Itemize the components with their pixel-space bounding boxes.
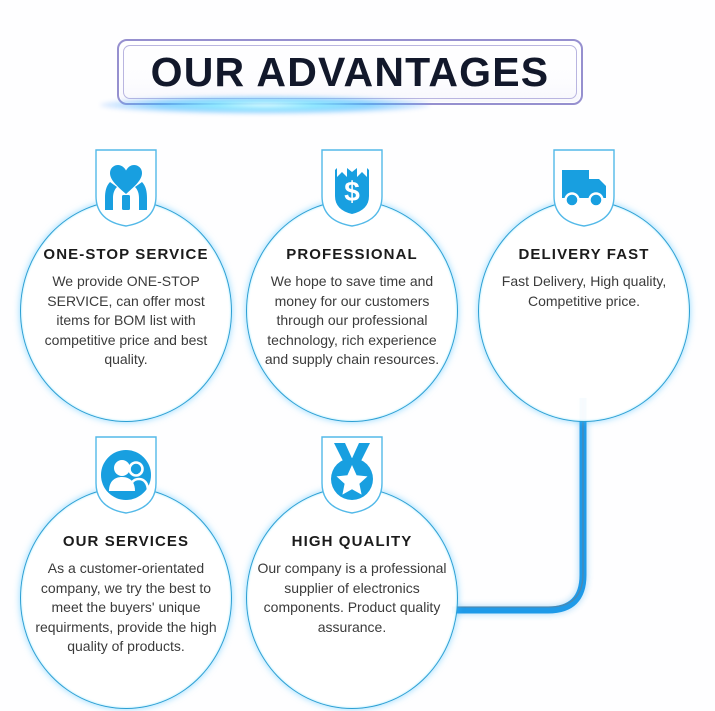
advantage-card-high-quality[interactable]: HIGH QUALITY Our company is a profession…: [246, 435, 458, 709]
advantage-card-professional[interactable]: $ PROFESSIONAL We hope to save time and …: [246, 148, 458, 422]
card-heading: ONE-STOP SERVICE: [31, 246, 221, 263]
card-text-block: PROFESSIONAL We hope to save time and mo…: [246, 200, 458, 422]
money-bag-icon: $: [319, 148, 385, 228]
card-text-block: HIGH QUALITY Our company is a profession…: [246, 487, 458, 709]
card-heading: OUR SERVICES: [31, 533, 221, 550]
card-body: Our company is a professional supplier o…: [257, 559, 447, 637]
heart-in-hands-icon: [93, 148, 159, 228]
card-body: We hope to save time and money for our c…: [257, 272, 447, 370]
card-body: As a customer-orientated company, we try…: [31, 559, 221, 657]
title-glow: [100, 96, 430, 114]
card-text-block: OUR SERVICES As a customer-orientated co…: [20, 487, 232, 709]
medal-star-icon: [319, 435, 385, 515]
card-heading: DELIVERY FAST: [489, 246, 679, 263]
card-text-block: DELIVERY FAST Fast Delivery, High qualit…: [478, 200, 690, 422]
page-title-box: OUR ADVANTAGES: [117, 39, 583, 105]
card-heading: HIGH QUALITY: [257, 533, 447, 550]
advantage-card-our-services[interactable]: OUR SERVICES As a customer-orientated co…: [20, 435, 232, 709]
delivery-truck-icon: [551, 148, 617, 228]
page-title: OUR ADVANTAGES: [151, 52, 550, 93]
advantage-card-delivery-fast[interactable]: DELIVERY FAST Fast Delivery, High qualit…: [478, 148, 690, 422]
advantage-card-one-stop-service[interactable]: ONE-STOP SERVICE We provide ONE-STOP SER…: [20, 148, 232, 422]
page-title-container: OUR ADVANTAGES: [117, 39, 583, 105]
card-heading: PROFESSIONAL: [257, 246, 447, 263]
card-body: We provide ONE-STOP SERVICE, can offer m…: [31, 272, 221, 370]
svg-text:$: $: [344, 176, 360, 207]
card-body: Fast Delivery, High quality, Competitive…: [489, 272, 679, 311]
card-text-block: ONE-STOP SERVICE We provide ONE-STOP SER…: [20, 200, 232, 422]
users-icon: [93, 435, 159, 515]
